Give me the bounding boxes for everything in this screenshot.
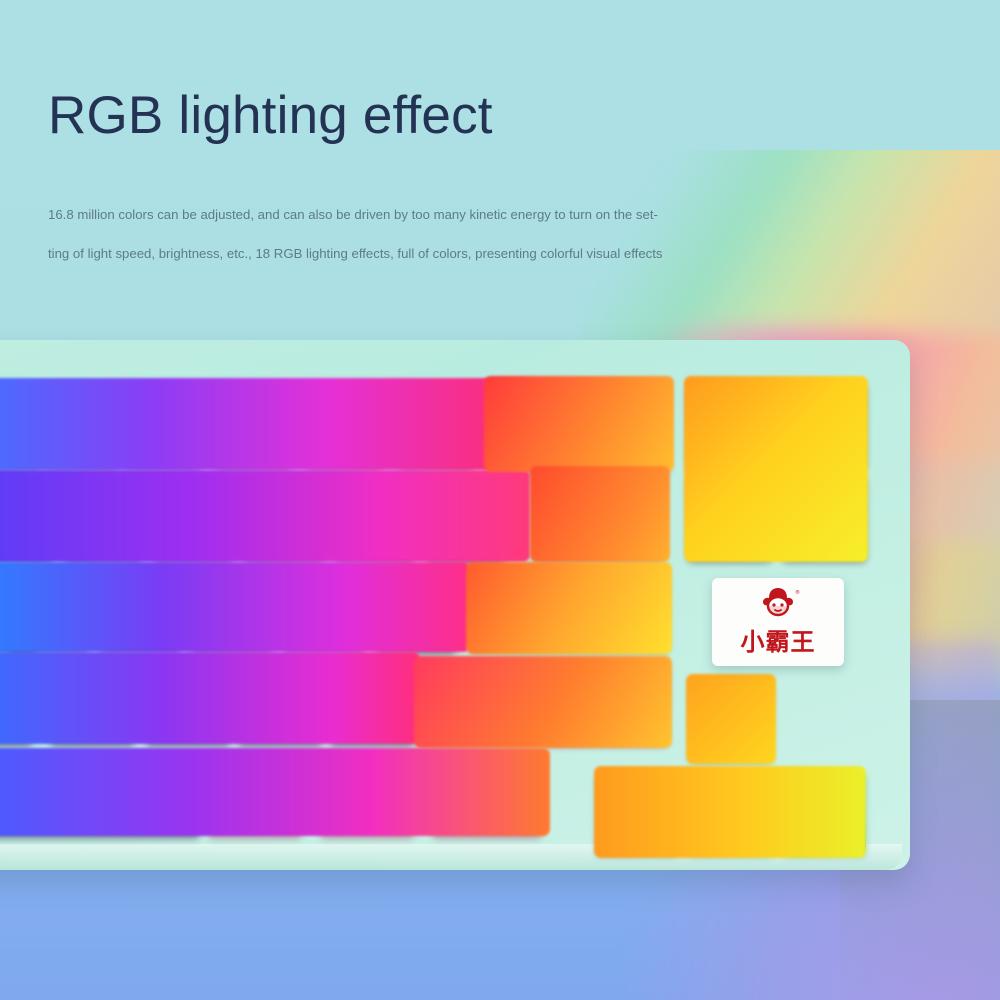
- brand-mascot-icon: ®: [755, 587, 801, 619]
- rgb-glow-shift: [414, 656, 672, 748]
- brand-name: 小霸王: [741, 622, 816, 657]
- rgb-glow-enter: [466, 562, 672, 654]
- svg-text:®: ®: [795, 589, 800, 596]
- header: RGB lighting effect 16.8 million colors …: [48, 88, 808, 274]
- rgb-glow-number-row: [0, 378, 530, 470]
- page-title: RGB lighting effect: [48, 88, 808, 144]
- brand-badge: ® 小霸王: [712, 578, 844, 666]
- rgb-glow-qwerty-row: [0, 470, 530, 562]
- rgb-glow-backslash: [530, 466, 670, 562]
- rgb-glow-arrow-up: [686, 674, 776, 764]
- rgb-glow-modifier-row: [0, 748, 550, 836]
- description-line-1: 16.8 million colors can be adjusted, and…: [48, 196, 720, 235]
- rgb-glow-backspace: [484, 376, 674, 472]
- description: 16.8 million colors can be adjusted, and…: [48, 196, 720, 274]
- rgb-glow-arrow-row: [594, 766, 866, 858]
- rgb-glow-home-row: [0, 562, 470, 652]
- rgb-glow-macro-cluster: [684, 376, 868, 562]
- description-line-2: ting of light speed, brightness, etc., 1…: [48, 235, 720, 274]
- rgb-glow-bottom-alpha-row: [0, 652, 420, 744]
